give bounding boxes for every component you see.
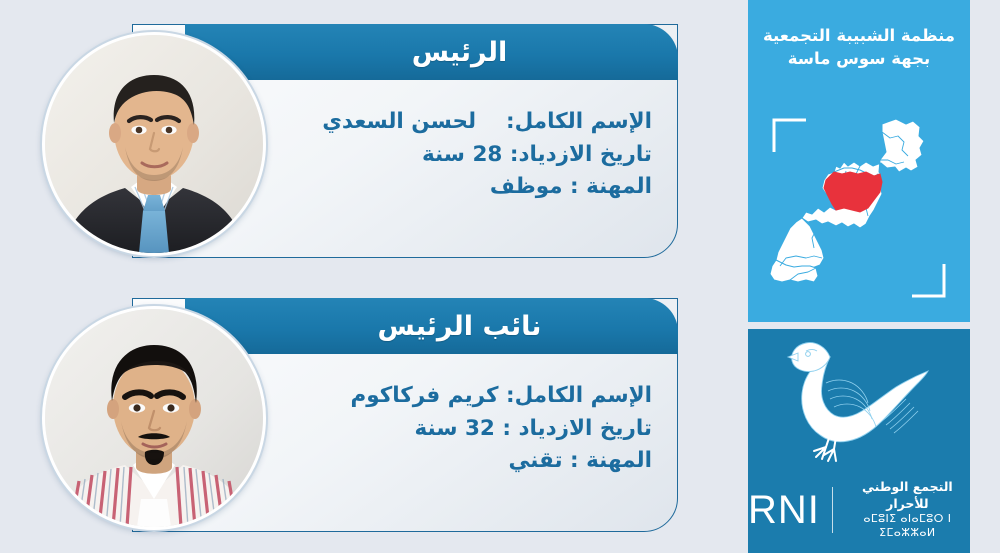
rni-arabic-name: التجمع الوطني للأحرار bbox=[845, 479, 970, 512]
card-header-banner: الرئيس bbox=[185, 24, 678, 80]
rni-tifinagh-name: ⴰⵎⵓⵏⵉ ⴰⵏⴰⵎⵓⵔ ⵏ ⵉⵎⴰⵣⵣⴰⵍ bbox=[845, 512, 970, 541]
rni-wordmark: RNI bbox=[748, 490, 820, 530]
morocco-map-svg bbox=[756, 108, 962, 308]
poster-canvas: منظمة الشبيبة التجمعية بجهة سوس ماسة bbox=[0, 0, 1000, 553]
dove-icon-svg bbox=[786, 327, 936, 485]
rni-logo: RNI التجمع الوطني للأحرار ⴰⵎⵓⵏⵉ ⴰⵏⴰⵎⵓⵔ ⵏ… bbox=[748, 479, 970, 541]
organisation-title: منظمة الشبيبة التجمعية بجهة سوس ماسة bbox=[748, 24, 970, 71]
dove-icon bbox=[786, 327, 936, 485]
logo-divider bbox=[832, 487, 833, 533]
card-title: نائب الرئيس bbox=[378, 311, 542, 342]
org-title-line-1: منظمة الشبيبة التجمعية bbox=[748, 24, 970, 47]
avatar bbox=[42, 306, 266, 530]
morocco-map bbox=[756, 108, 962, 308]
card-header-banner: نائب الرئيس bbox=[185, 298, 678, 354]
card-title: الرئيس bbox=[412, 37, 508, 68]
rail-bottom-panel: RNI التجمع الوطني للأحرار ⴰⵎⵓⵏⵉ ⴰⵏⴰⵎⵓⵔ ⵏ… bbox=[748, 329, 970, 553]
avatar-photo-vice-president bbox=[45, 309, 263, 527]
right-rail: منظمة الشبيبة التجمعية بجهة سوس ماسة bbox=[748, 0, 970, 553]
member-card-vice-president: نائب الرئيس الإسم الكامل: كريم فركاكوم ت… bbox=[42, 298, 678, 532]
avatar-photo-president bbox=[45, 35, 263, 253]
avatar bbox=[42, 32, 266, 256]
member-card-president: الرئيس الإسم الكامل: لحسن السعدي تاريخ ا… bbox=[42, 24, 678, 258]
org-title-line-2: بجهة سوس ماسة bbox=[748, 47, 970, 70]
rni-logo-text: التجمع الوطني للأحرار ⴰⵎⵓⵏⵉ ⴰⵏⴰⵎⵓⵔ ⵏ ⵉⵎⴰ… bbox=[845, 479, 970, 540]
